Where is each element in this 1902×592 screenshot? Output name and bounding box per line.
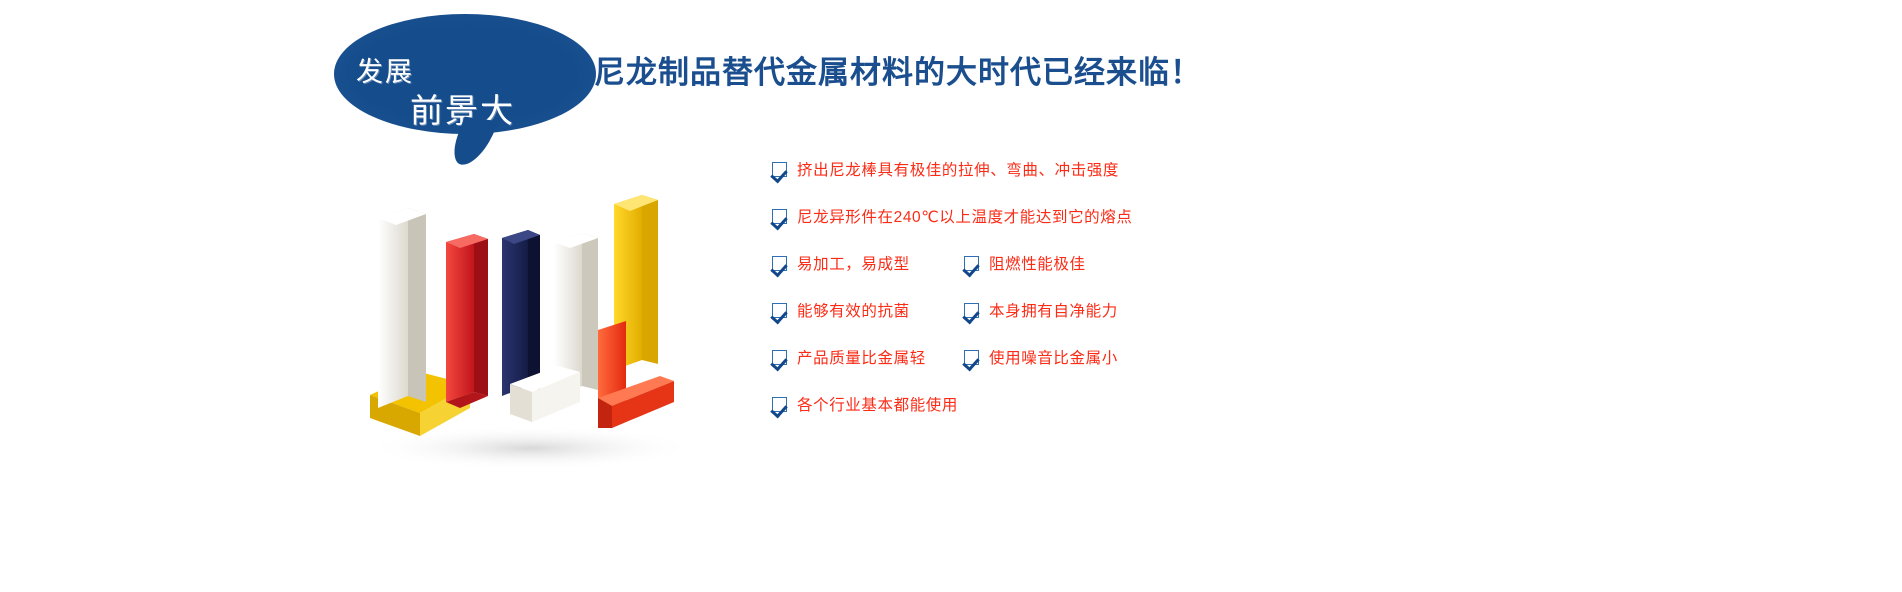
speech-bubble-line-2: 前景大 <box>410 84 515 132</box>
bullet-row: 尼龙异形件在240℃以上温度才能达到它的熔点 <box>772 205 1372 252</box>
banner-stage: 发展 前景大 尼龙制品替代金属材料的大时代已经来临！ <box>0 0 1902 592</box>
bullet-item: 阻燃性能极佳 <box>964 252 1086 274</box>
bullet-row: 各个行业基本都能使用 <box>772 393 1372 440</box>
bullet-item: 产品质量比金属轻 <box>772 346 926 368</box>
navy-flat-bar <box>502 230 540 396</box>
bullet-label: 各个行业基本都能使用 <box>797 393 958 415</box>
bullet-item: 尼龙异形件在240℃以上温度才能达到它的熔点 <box>772 205 1132 227</box>
bullet-item: 使用噪音比金属小 <box>964 346 1118 368</box>
speech-bubble: 发展 前景大 <box>334 14 606 159</box>
checkbox-checked-icon <box>772 209 787 224</box>
nylon-profiles-photo <box>330 180 730 480</box>
bullet-label: 易加工，易成型 <box>797 252 910 274</box>
bullet-label: 使用噪音比金属小 <box>989 346 1118 368</box>
bullet-label: 本身拥有自净能力 <box>989 299 1118 321</box>
checkbox-checked-icon <box>964 303 979 318</box>
bullet-row: 易加工，易成型 阻燃性能极佳 <box>772 252 1372 299</box>
white-u-channel <box>378 208 426 408</box>
bullet-item: 本身拥有自净能力 <box>964 299 1118 321</box>
bullet-label: 挤出尼龙棒具有极佳的拉伸、弯曲、冲击强度 <box>797 158 1119 180</box>
bullet-item: 能够有效的抗菌 <box>772 299 910 321</box>
checkbox-checked-icon <box>772 162 787 177</box>
page-headline: 尼龙制品替代金属材料的大时代已经来临！ <box>594 55 1202 91</box>
bullet-item: 易加工，易成型 <box>772 252 910 274</box>
bullet-item: 挤出尼龙棒具有极佳的拉伸、弯曲、冲击强度 <box>772 158 1119 180</box>
checkbox-checked-icon <box>772 350 787 365</box>
checkbox-checked-icon <box>772 397 787 412</box>
bullet-row: 产品质量比金属轻 使用噪音比金属小 <box>772 346 1372 393</box>
bullet-label: 阻燃性能极佳 <box>989 252 1086 274</box>
bullet-row: 能够有效的抗菌 本身拥有自净能力 <box>772 299 1372 346</box>
bullet-label: 尼龙异形件在240℃以上温度才能达到它的熔点 <box>797 205 1132 227</box>
bullet-label: 能够有效的抗菌 <box>797 299 910 321</box>
checkbox-checked-icon <box>964 350 979 365</box>
bullet-item: 各个行业基本都能使用 <box>772 393 958 415</box>
speech-bubble-body: 发展 前景大 <box>334 14 596 134</box>
checkbox-checked-icon <box>772 303 787 318</box>
feature-bullet-list: 挤出尼龙棒具有极佳的拉伸、弯曲、冲击强度 尼龙异形件在240℃以上温度才能达到它… <box>772 158 1372 440</box>
speech-bubble-line-1: 发展 <box>356 50 414 89</box>
red-l-angle <box>446 234 488 408</box>
bullet-label: 产品质量比金属轻 <box>797 346 926 368</box>
checkbox-checked-icon <box>964 256 979 271</box>
checkbox-checked-icon <box>772 256 787 271</box>
nylon-profiles-illustration <box>330 180 730 480</box>
bullet-row: 挤出尼龙棒具有极佳的拉伸、弯曲、冲击强度 <box>772 158 1372 205</box>
